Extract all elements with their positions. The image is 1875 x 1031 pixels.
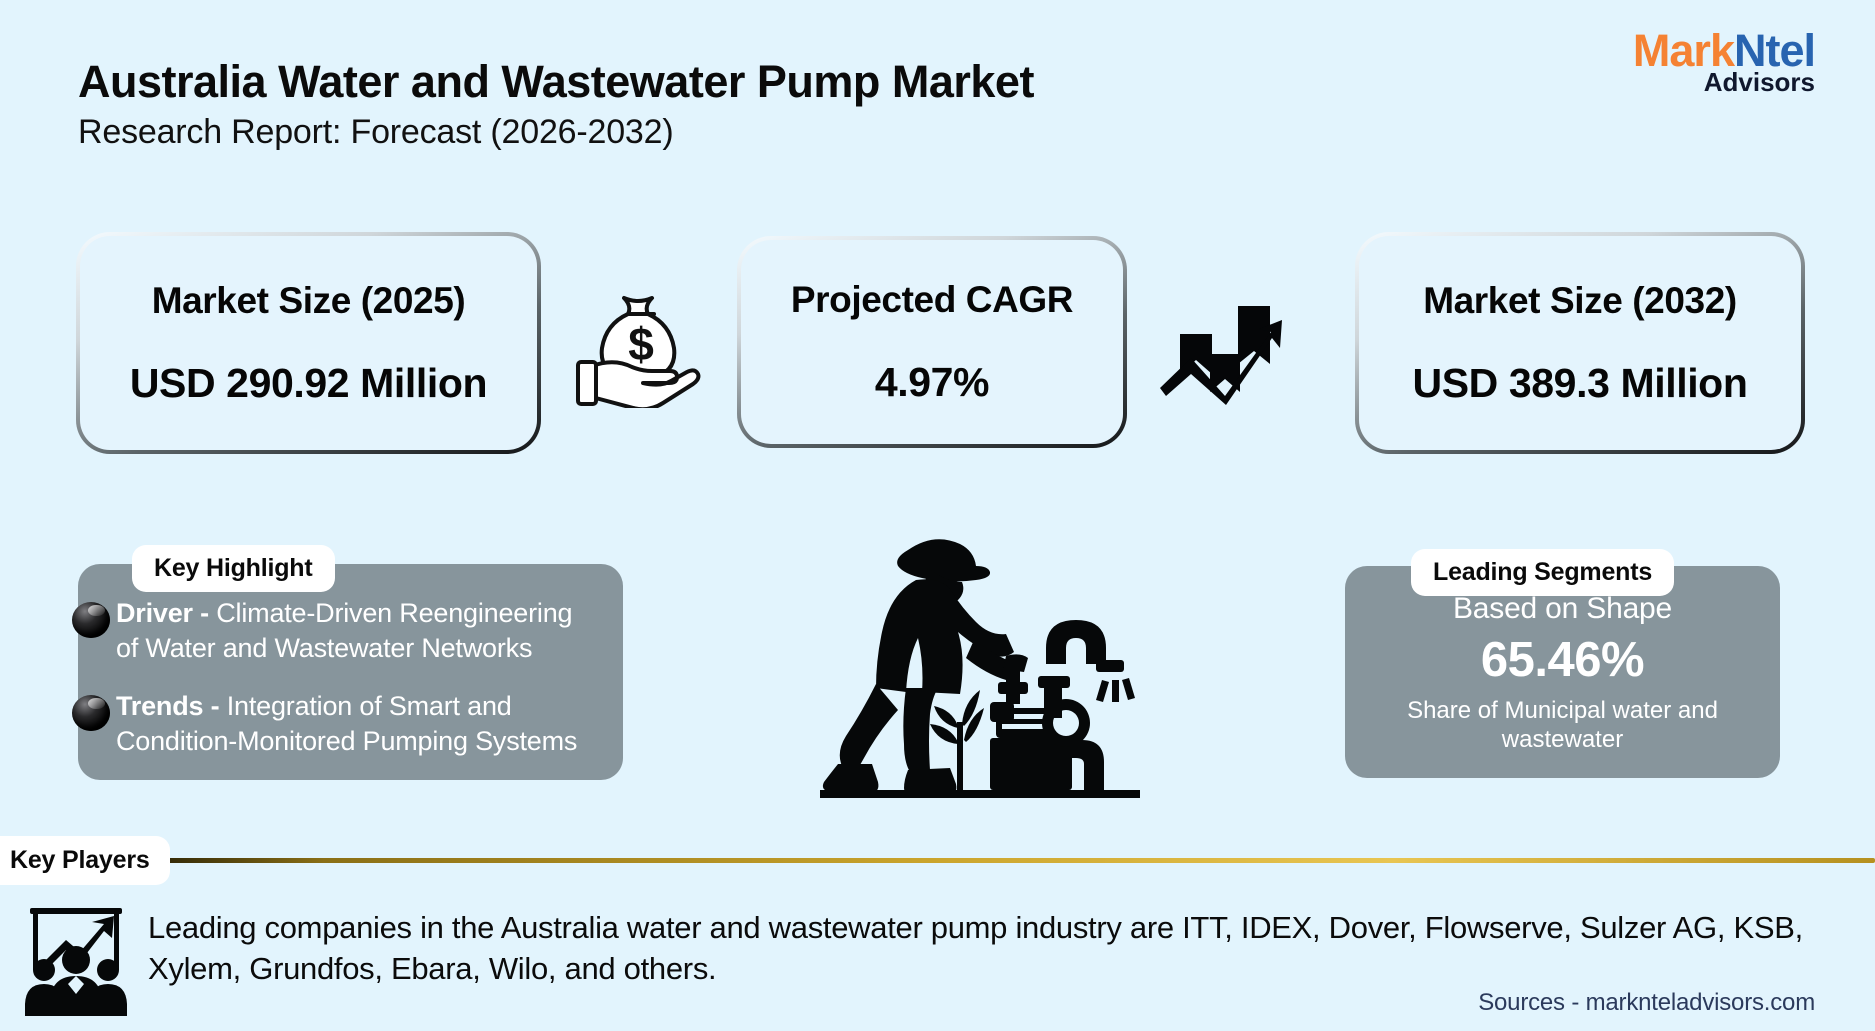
highlight-label: Trends - <box>116 691 219 721</box>
stat-card-value: USD 389.3 Million <box>1413 360 1748 407</box>
stat-card-market-size-2032: Market Size (2032) USD 389.3 Million <box>1355 232 1805 454</box>
key-highlight-badge: Key Highlight <box>132 545 335 592</box>
stat-card-value: 4.97% <box>875 359 989 406</box>
page-subtitle: Research Report: Forecast (2026-2032) <box>78 113 1034 152</box>
svg-text:$: $ <box>628 318 654 370</box>
key-highlight-panel: Driver - Climate-Driven Reengineering of… <box>78 564 623 780</box>
stat-card-label: Market Size (2032) <box>1423 280 1737 322</box>
segment-basis: Based on Shape <box>1345 592 1780 626</box>
key-players-badge: Key Players <box>0 836 170 885</box>
highlight-text: Trends - Integration of Smart and Condit… <box>116 689 601 758</box>
key-players-text: Leading companies in the Australia water… <box>148 908 1848 990</box>
list-item: Trends - Integration of Smart and Condit… <box>116 689 601 758</box>
water-pump-worker-icon <box>820 528 1140 800</box>
sphere-bullet-icon <box>72 695 110 731</box>
brand-logo: MarkNtel Advisors <box>1633 28 1815 95</box>
stat-card-market-size-2025: Market Size (2025) USD 290.92 Million <box>76 232 541 454</box>
infographic-page: Australia Water and Wastewater Pump Mark… <box>0 0 1875 1031</box>
key-highlight-list: Driver - Climate-Driven Reengineering of… <box>78 564 623 758</box>
business-team-icon <box>22 902 130 1018</box>
stat-card-label: Market Size (2025) <box>152 280 466 322</box>
segment-share-value: 65.46% <box>1345 632 1780 688</box>
page-title: Australia Water and Wastewater Pump Mark… <box>78 58 1034 105</box>
stat-card-label: Projected CAGR <box>791 279 1073 321</box>
stat-card-value: USD 290.92 Million <box>130 360 487 407</box>
list-item: Driver - Climate-Driven Reengineering of… <box>116 596 601 665</box>
leading-segments-panel: Based on Shape 65.46% Share of Municipal… <box>1345 566 1780 778</box>
growth-chart-icon <box>1158 292 1286 410</box>
key-players-divider <box>152 858 1875 863</box>
highlight-label: Driver - <box>116 598 209 628</box>
sphere-bullet-icon <box>72 602 110 638</box>
segment-share-note: Share of Municipal water and wastewater <box>1345 696 1780 755</box>
header-title-block: Australia Water and Wastewater Pump Mark… <box>78 58 1034 152</box>
stat-card-projected-cagr: Projected CAGR 4.97% <box>737 236 1127 448</box>
money-bag-icon: $ <box>572 288 702 408</box>
highlight-text: Driver - Climate-Driven Reengineering of… <box>116 596 601 665</box>
sources-label: Sources - marknteladvisors.com <box>1478 989 1815 1017</box>
leading-segments-badge: Leading Segments <box>1411 549 1674 596</box>
